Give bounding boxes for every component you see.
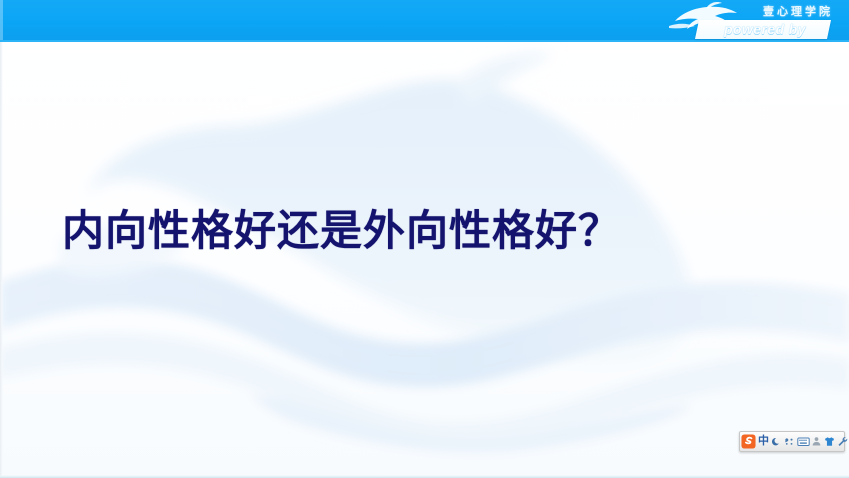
punctuation-toggle-icon[interactable] (783, 433, 796, 450)
slide-title: 内向性格好还是外向性格好？ (62, 205, 621, 257)
wave-watermark-icon (0, 259, 849, 453)
toolbox-wrench-icon[interactable] (836, 433, 849, 450)
video-player-frame: 内向性格好还是外向性格好？ 壹心理学院 powered by (0, 0, 849, 478)
brand-name-text: 壹心理学院 (763, 3, 833, 19)
background-watermark-art (0, 42, 849, 478)
slide-left-edge (0, 0, 3, 478)
powered-by-label: powered by (703, 21, 827, 38)
header-bar: 壹心理学院 powered by (0, 0, 849, 42)
moon-mode-icon[interactable] (770, 433, 783, 450)
brand-logo: 壹心理学院 powered by (675, 0, 835, 42)
slide-canvas: 内向性格好还是外向性格好？ (0, 0, 849, 478)
sogou-ime-toolbar[interactable]: 中 (739, 431, 845, 452)
skin-tshirt-icon[interactable] (823, 433, 836, 450)
sogou-logo-icon[interactable] (741, 434, 756, 449)
chinese-english-toggle[interactable]: 中 (757, 433, 770, 450)
header-left-highlight (0, 0, 3, 40)
soft-keyboard-icon[interactable] (796, 433, 810, 450)
user-center-icon[interactable] (810, 433, 823, 450)
